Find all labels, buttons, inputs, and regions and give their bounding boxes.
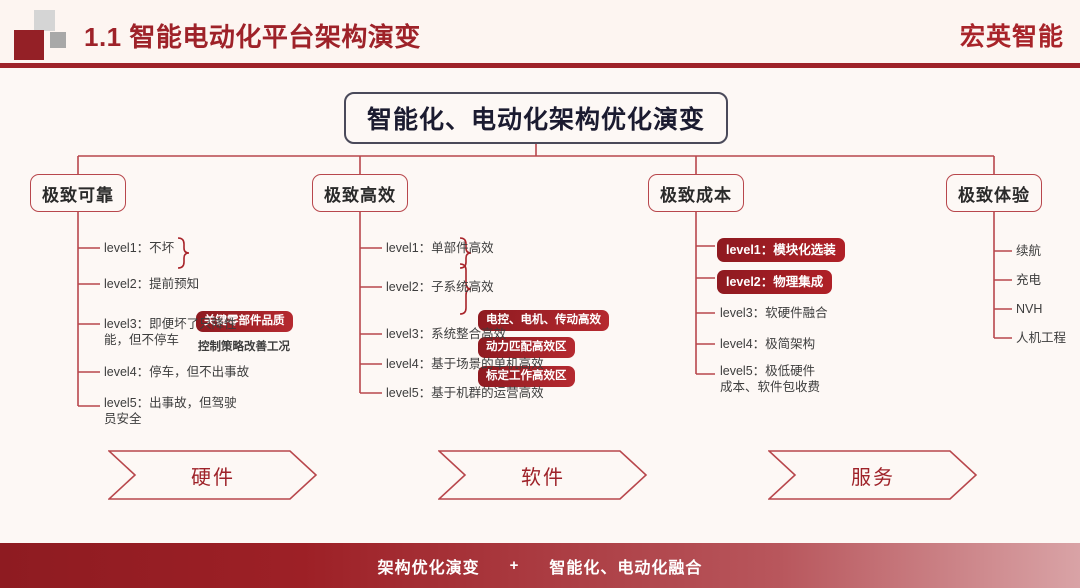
leaf-item: level2：子系统高效: [386, 279, 494, 295]
chevron-label: 服务: [851, 461, 895, 490]
branch-head-reliability[interactable]: 极致可靠: [30, 174, 126, 212]
leaf-item-highlighted: level1：模块化选装: [717, 238, 845, 262]
leaf-item-highlighted: level2：物理集成: [717, 270, 832, 294]
chevron-label: 软件: [521, 461, 565, 490]
slide-header: 1.1 智能电动化平台架构演变 宏英智能: [0, 0, 1080, 68]
leaf-item: NVH: [1016, 301, 1042, 317]
leaf-item: level2：提前预知: [104, 276, 199, 292]
leaf-item: level1：单部件高效: [386, 240, 494, 256]
branch-head-efficiency[interactable]: 极致高效: [312, 174, 408, 212]
leaf-item: 充电: [1016, 272, 1041, 288]
branch-head-cost[interactable]: 极致成本: [648, 174, 744, 212]
branch-head-label: 极致可靠: [42, 181, 114, 206]
leaf-item: level3：即便坏了只降性 能，但不停车: [104, 316, 237, 348]
branch-head-label: 极致体验: [958, 181, 1030, 206]
leaf-item: 人机工程: [1016, 330, 1066, 346]
decorative-square-light-gray: [34, 10, 55, 31]
root-node-label: 智能化、电动化架构优化演变: [367, 100, 705, 136]
diagram-canvas: 智能化、电动化架构优化演变 极致可靠 极致高效 极致成本 极致体验 level1…: [0, 68, 1080, 543]
leaf-item: level3：系统整合高效: [386, 326, 506, 342]
page-title: 1.1 智能电动化平台架构演变: [84, 17, 421, 54]
leaf-item: level5：极低硬件 成本、软件包收费: [720, 363, 820, 395]
slide-footer: 架构优化演变 + 智能化、电动化融合: [0, 543, 1080, 588]
decorative-square-gray: [50, 32, 66, 48]
leaf-item: level3：软硬件融合: [720, 305, 828, 321]
chevron-label: 硬件: [191, 461, 235, 490]
leaf-item: level5：基于机群的运营高效: [386, 385, 544, 401]
leaf-item: 续航: [1016, 243, 1041, 259]
leaf-item: level1：不坏: [104, 240, 174, 256]
leaf-item: level4：停车，但不出事故: [104, 364, 249, 380]
branch-head-label: 极致高效: [324, 181, 396, 206]
chevron-service[interactable]: 服务: [768, 450, 978, 500]
decorative-square-red: [14, 30, 44, 60]
branch-head-label: 极致成本: [660, 181, 732, 206]
chevron-software[interactable]: 软件: [438, 450, 648, 500]
chevron-hardware[interactable]: 硬件: [108, 450, 318, 500]
brand-logo: 宏英智能: [960, 17, 1064, 53]
footer-plus-sign: +: [510, 557, 520, 574]
branch-head-experience[interactable]: 极致体验: [946, 174, 1042, 212]
footer-left-text: 架构优化演变: [378, 554, 480, 578]
leaf-item: level4：基于场景的单机高效: [386, 356, 544, 372]
root-node: 智能化、电动化架构优化演变: [344, 92, 728, 144]
leaf-item: level4：极简架构: [720, 336, 815, 352]
footer-right-text: 智能化、电动化融合: [549, 554, 702, 578]
leaf-item: level5：出事故，但驾驶 员安全: [104, 395, 237, 427]
